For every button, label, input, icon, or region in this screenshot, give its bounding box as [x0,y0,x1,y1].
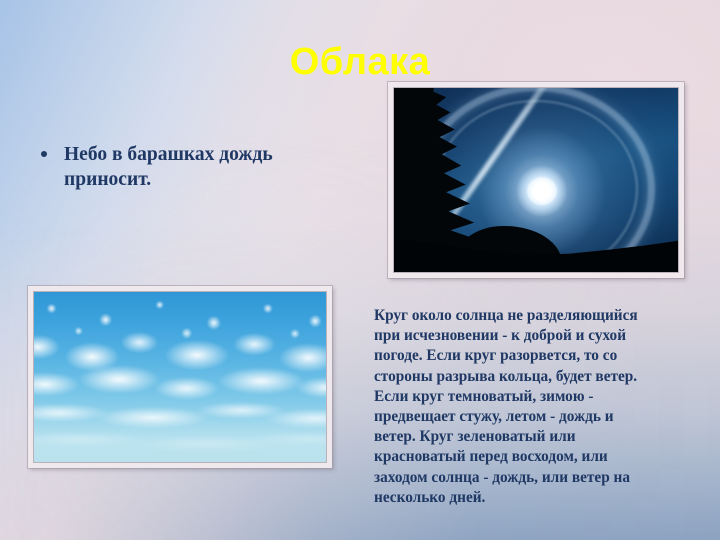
altocumulus-clouds-photo [28,286,332,468]
sun-icon [527,177,557,205]
sun-halo-photo [388,82,684,278]
page-title: Облака [0,40,720,84]
cloud-sky-backdrop [34,292,326,462]
halo-sky-backdrop [394,88,678,272]
bullet-dot-icon [41,151,47,157]
bullet-list: Небо в барашках дождь приносит. [34,142,354,192]
list-item-label: Небо в барашках дождь приносит. [64,144,273,190]
list-item: Небо в барашках дождь приносит. [34,142,354,192]
cloud-horizon-haze [34,418,326,462]
slide-canvas: Облака Небо в барашках дождь приносит. [0,0,720,540]
halo-description-text: Круг около солнца не разделяющийся при и… [374,306,640,508]
altocumulus-clouds-photo-inner [33,291,327,463]
sun-halo-photo-inner [393,87,679,273]
